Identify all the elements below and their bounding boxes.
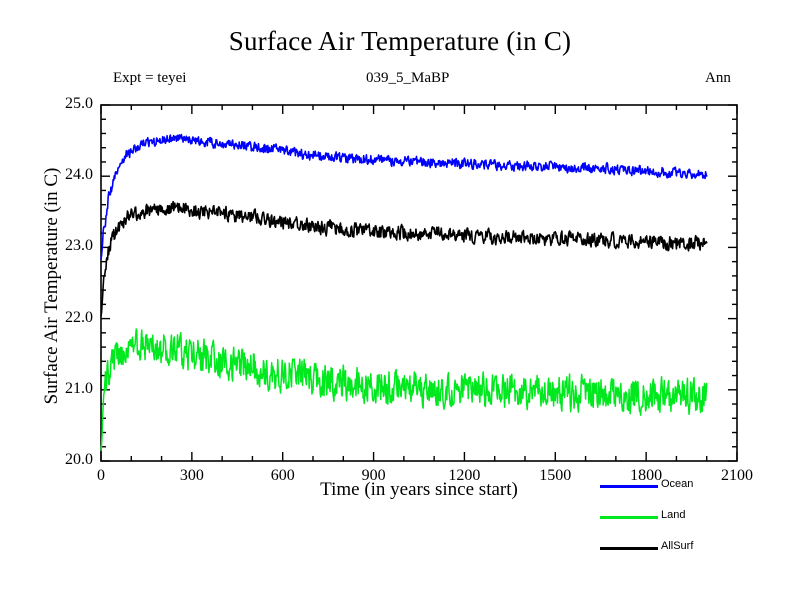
header-experiment-label: Expt = teyei	[113, 70, 186, 87]
y-tick-label: 25.0	[33, 95, 93, 113]
x-tick-label: 600	[243, 467, 323, 485]
x-tick-label: 0	[61, 467, 141, 485]
x-tick-label: 1200	[424, 467, 504, 485]
y-tick-label: 22.0	[33, 309, 93, 327]
y-tick-label: 24.0	[33, 166, 93, 184]
series-line-ocean	[101, 135, 707, 259]
series-line-land	[101, 329, 707, 450]
header-run-label: 039_5_MaBP	[366, 70, 449, 87]
series-line-allsurf	[101, 202, 707, 316]
legend-swatch-ocean	[600, 485, 658, 488]
legend-label: AllSurf	[661, 540, 693, 552]
y-tick-label: 23.0	[33, 237, 93, 255]
x-tick-label: 1500	[515, 467, 595, 485]
x-tick-label: 300	[152, 467, 232, 485]
legend-swatch-allsurf	[600, 547, 658, 550]
x-tick-label: 2100	[697, 467, 777, 485]
legend-swatch-land	[600, 516, 658, 519]
y-tick-label: 21.0	[33, 380, 93, 398]
page-title: Surface Air Temperature (in C)	[0, 26, 800, 57]
header-period-label: Ann	[705, 70, 731, 87]
x-tick-label: 900	[334, 467, 414, 485]
chart-figure: Surface Air Temperature (in C) Expt = te…	[0, 0, 800, 600]
legend-label: Land	[661, 509, 685, 521]
legend-label: Ocean	[661, 478, 693, 490]
